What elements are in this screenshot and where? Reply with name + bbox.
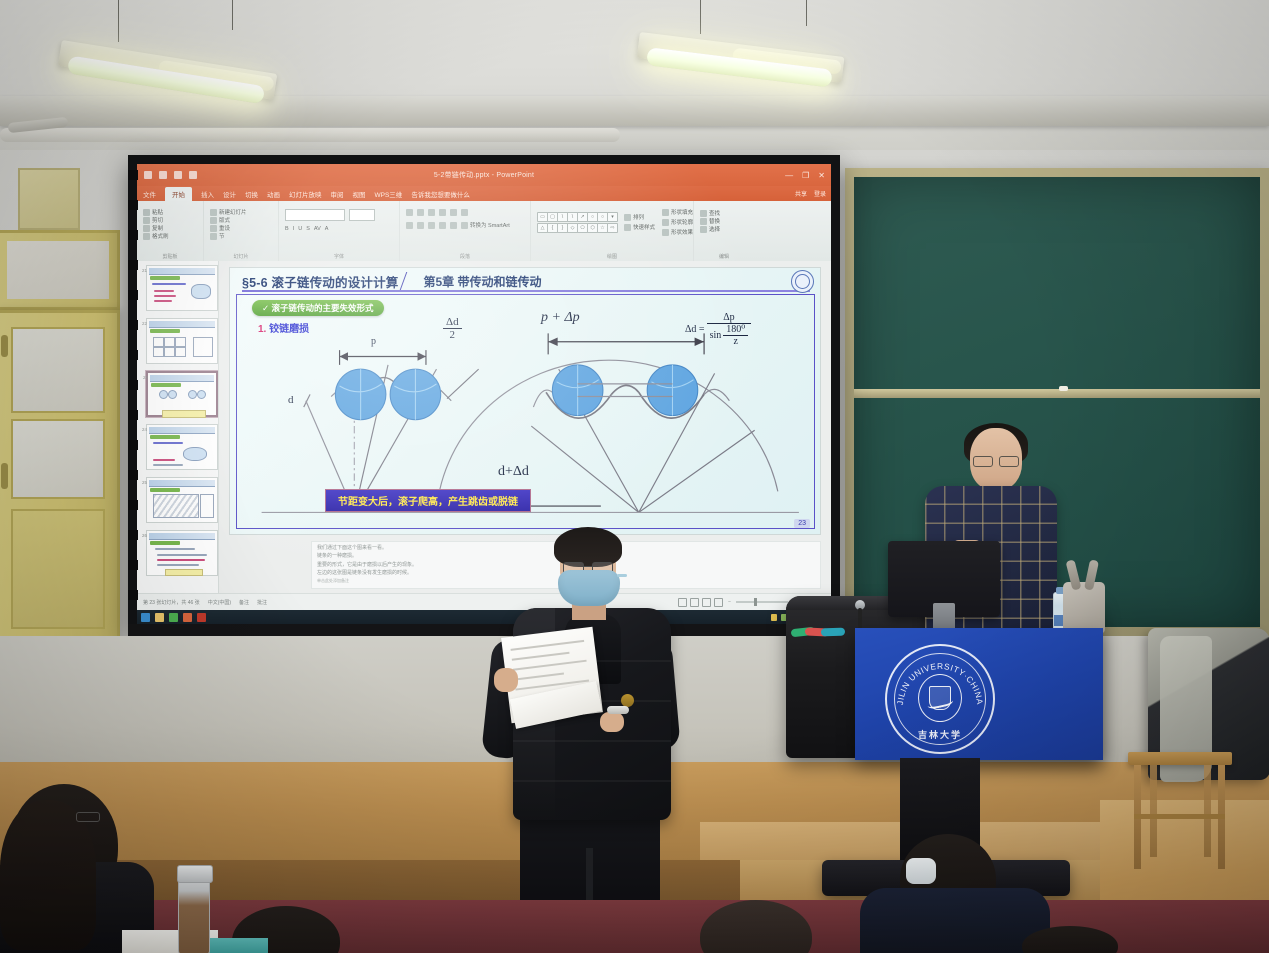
tab-design[interactable]: 设计: [223, 189, 236, 199]
stool-rail: [1134, 814, 1225, 819]
thumb-number: 22: [142, 321, 147, 326]
inner-fraction: 180⁰ z: [723, 324, 748, 347]
ceiling-pipe: [0, 128, 620, 142]
replace-button[interactable]: 替换: [700, 217, 720, 225]
text-direction-button[interactable]: [461, 209, 468, 216]
door-transom: [0, 230, 120, 310]
shape-more-icon[interactable]: ▾: [607, 212, 618, 222]
tab-review[interactable]: 审阅: [331, 189, 344, 199]
formula-numerator: Δp: [707, 312, 752, 323]
mask-ear-loop: [617, 574, 627, 577]
marker-teal[interactable]: [821, 628, 845, 637]
thumb-number: 26: [142, 533, 147, 538]
vacuum-flask: [178, 872, 210, 953]
lamp-wire: [232, 0, 233, 30]
label-p-plus-delta-p: p + Δp: [541, 310, 580, 326]
group-label-drawing: 绘图: [531, 253, 693, 260]
current-slide[interactable]: §5-6 滚子链传动的设计计算 第5章 带传动和链传动 ✓ 滚子链传动的主要失效…: [229, 267, 821, 535]
projected-image: 5-2带链传动.pptx - PowerPoint — ❐ ✕ 文件 开始 插入…: [137, 164, 831, 624]
thumb-green-tag: [150, 276, 180, 280]
tab-file[interactable]: 文件: [143, 189, 156, 199]
screen-tab-strip: [128, 164, 138, 626]
fraction-numerator: Δd: [443, 316, 462, 328]
text-shadow-button[interactable]: S: [306, 226, 310, 232]
format-painter-button[interactable]: 格式刷: [143, 232, 169, 240]
smartart-button[interactable]: 转换为 SmartArt: [461, 221, 510, 229]
close-icon[interactable]: ✕: [818, 171, 825, 180]
label-delta-d-over-2: Δd 2: [443, 316, 462, 341]
group-label-clipboard: 剪贴板: [137, 253, 203, 260]
thumb-number: 24: [142, 427, 147, 432]
stool-leg: [1204, 765, 1211, 857]
thumb-line: [154, 300, 172, 302]
wall-panel: [18, 168, 80, 230]
projection-screen: 5-2带链传动.pptx - PowerPoint — ❐ ✕ 文件 开始 插入…: [128, 155, 840, 633]
thumb-line: [157, 564, 199, 566]
reset-button[interactable]: 重设: [210, 224, 230, 232]
font-color-button[interactable]: A: [325, 226, 329, 232]
notes-toggle[interactable]: 备注: [239, 599, 249, 606]
file-explorer-icon[interactable]: [155, 613, 164, 622]
ribbon-tabs[interactable]: 文件 开始 插入 设计 切换 动画 幻灯片放映 审阅 视图 WPS三维 告诉我您…: [137, 186, 831, 201]
zoom-out-icon[interactable]: −: [728, 599, 731, 605]
chalk-rail: [854, 389, 1260, 398]
thumb-green-tag: [150, 541, 180, 545]
ribbon-group-font[interactable]: B I U S AV A 字体: [279, 201, 400, 261]
tab-insert[interactable]: 插入: [201, 189, 214, 199]
group-label-font: 字体: [279, 253, 399, 260]
powerpoint-icon[interactable]: [183, 613, 192, 622]
font-name-input[interactable]: [285, 209, 345, 221]
thumb-cell: [164, 337, 175, 347]
thumb-title-bar: [149, 533, 215, 540]
transom-glass: [7, 241, 109, 299]
account-area[interactable]: 共享 登录: [795, 189, 826, 198]
thumb-roller: [197, 390, 206, 399]
canvas-tote-bag: [1063, 582, 1105, 634]
inner-denominator: z: [723, 335, 748, 347]
signin-button[interactable]: 登录: [814, 189, 826, 198]
thumb-cell: [175, 347, 186, 357]
slide-thumbnail[interactable]: 21: [146, 265, 218, 311]
thumb-figure: [153, 494, 199, 518]
window-controls[interactable]: — ❐ ✕: [785, 171, 825, 180]
select-button[interactable]: 选择: [700, 225, 720, 233]
slide-thumbnail[interactable]: 24: [146, 424, 218, 470]
thumb-line: [155, 548, 195, 550]
jilin-university-emblem: JILIN UNIVERSITY·CHINA 吉林大学: [885, 644, 995, 754]
new-slide-button[interactable]: 新建幻灯片: [210, 208, 247, 216]
thumb-line: [154, 295, 176, 297]
thumb-green-tag: [151, 383, 181, 387]
audience-glasses-icon: [76, 812, 100, 822]
ribbon-group-editing[interactable]: 查找 替换 选择 编辑: [694, 201, 754, 261]
align-center-button[interactable]: [417, 222, 424, 229]
thumb-cell: [153, 337, 164, 347]
tell-me-box[interactable]: 告诉我您想要做什么: [411, 189, 470, 199]
slide-page-number: 23: [794, 519, 810, 528]
thumb-cell: [164, 347, 175, 357]
increase-indent-button[interactable]: [439, 209, 446, 216]
ribbon-group-paragraph[interactable]: 转换为 SmartArt 段落: [400, 201, 531, 261]
thumb-figure: [200, 494, 214, 518]
emblem-crest: [918, 674, 962, 722]
character-spacing-button[interactable]: AV: [314, 226, 321, 232]
reading-view-icon[interactable]: [702, 598, 711, 607]
thumb-line: [154, 290, 174, 292]
thumb-number: 25: [142, 480, 147, 485]
tab-animations[interactable]: 动画: [267, 189, 280, 199]
thumb-callout: [162, 410, 206, 418]
start-button[interactable]: [141, 613, 150, 622]
group-label-editing: 编辑: [694, 253, 754, 260]
lamp-wire: [806, 0, 807, 26]
stool-seat: [1128, 752, 1232, 765]
arrange-button[interactable]: 排列: [624, 213, 655, 221]
section-button[interactable]: 节: [210, 232, 225, 240]
sin-label: sin: [710, 330, 722, 341]
thumb-title-bar: [149, 480, 215, 487]
standing-presenter-hair: [554, 527, 622, 567]
whiteboard-markers[interactable]: [791, 628, 847, 638]
work-area: 21 22: [137, 261, 831, 594]
door-glass-pane: [11, 419, 105, 499]
slide-thumbnail[interactable]: 26: [146, 530, 218, 576]
ribbon[interactable]: 粘贴 剪切 复制 格式刷 剪贴板 新建幻灯片 版式 重设 节 幻灯片: [137, 201, 831, 262]
door-glass-pane: [11, 327, 105, 413]
copy-button[interactable]: 复制: [143, 224, 163, 232]
thumb-green-tag: [150, 329, 180, 333]
justify-button[interactable]: [439, 222, 446, 229]
thumb-figure: [193, 337, 213, 357]
slide-thumbnail[interactable]: 22: [146, 318, 218, 364]
lamp-wire: [700, 0, 701, 34]
slide-thumbnail-panel[interactable]: 21 22: [137, 261, 219, 594]
view-buttons[interactable]: [678, 598, 723, 607]
shape-effects-button[interactable]: 形状效果: [662, 228, 693, 236]
ribbon-group-slides[interactable]: 新建幻灯片 版式 重设 节 幻灯片: [204, 201, 279, 261]
door-wood-panel: [11, 509, 105, 629]
thumb-number: 21: [142, 268, 147, 273]
font-size-input[interactable]: [349, 209, 375, 221]
stool-leg: [1150, 765, 1157, 857]
thumb-roller: [168, 390, 177, 399]
inner-numerator: 180⁰: [723, 324, 748, 335]
slide-sorter-icon[interactable]: [690, 598, 699, 607]
decrease-indent-button[interactable]: [428, 209, 435, 216]
lens-right: [999, 456, 1019, 467]
pdf-reader-icon[interactable]: [197, 613, 206, 622]
wristwatch: [607, 706, 629, 714]
find-button[interactable]: 查找: [700, 209, 720, 217]
status-bar[interactable]: 第 23 张幻灯片，共 46 张 中文(中国) 备注 批注 − +: [137, 593, 831, 610]
slide-editing-area[interactable]: §5-6 滚子链传动的设计计算 第5章 带传动和链传动 ✓ 滚子链传动的主要失效…: [219, 261, 831, 594]
tab-transitions[interactable]: 切换: [245, 189, 258, 199]
align-right-button[interactable]: [428, 222, 435, 229]
thumb-roller: [159, 390, 168, 399]
lamp-wire: [118, 0, 119, 42]
fraction: Δd 2: [443, 316, 462, 341]
thumb-line: [157, 559, 205, 561]
line-spacing-button[interactable]: [450, 209, 457, 216]
paste-button[interactable]: 粘贴: [143, 208, 163, 216]
tab-wps3d[interactable]: WPS三维: [375, 189, 403, 199]
columns-button[interactable]: [450, 222, 457, 229]
thumb-title-bar: [149, 321, 215, 328]
shape-arrow2-icon[interactable]: ⇨: [607, 223, 618, 233]
thumb-title-bar: [149, 268, 215, 275]
title-bar: 5-2带链传动.pptx - PowerPoint — ❐ ✕: [137, 164, 831, 186]
cut-button[interactable]: 剪切: [143, 216, 163, 224]
audience-hair-long: [0, 800, 96, 950]
minimize-icon[interactable]: —: [785, 171, 793, 180]
group-label-paragraph: 段落: [400, 253, 530, 260]
audience-face-mask: [906, 858, 936, 884]
shape-outline-button[interactable]: 形状轮廓: [662, 218, 693, 226]
bullets-button[interactable]: [406, 209, 413, 216]
wooden-stool: [1128, 752, 1232, 872]
thumb-number: 23: [143, 375, 148, 380]
standing-presenter-left-hand: [494, 668, 518, 692]
thumb-line: [157, 554, 207, 556]
comments-toggle[interactable]: 批注: [257, 599, 267, 606]
tab-home[interactable]: 开始: [165, 187, 192, 201]
numbering-button[interactable]: [417, 209, 424, 216]
bold-button[interactable]: B: [285, 226, 289, 232]
fraction-denominator: 2: [443, 328, 462, 341]
thumb-green-tag: [150, 435, 180, 439]
formula-lhs: Δd =: [685, 324, 705, 335]
italic-button[interactable]: I: [293, 226, 295, 232]
windows-taskbar[interactable]: [137, 610, 831, 624]
lecture-hall-scene: 5-2带链传动.pptx - PowerPoint — ❐ ✕ 文件 开始 插入…: [0, 0, 1269, 953]
browser-icon[interactable]: [169, 613, 178, 622]
thumb-green-tag: [150, 488, 180, 492]
window-title: 5-2带链传动.pptx - PowerPoint: [137, 170, 831, 180]
slide-thumbnail[interactable]: 25: [146, 477, 218, 523]
chalk-piece: [1059, 386, 1068, 391]
thumb-line: [153, 464, 183, 466]
thumb-cell: [153, 347, 164, 357]
ceiling-beam: [0, 96, 1269, 126]
emblem-chinese-name: 吉林大学: [887, 728, 993, 741]
shape-fill-button[interactable]: 形状填充: [662, 208, 693, 216]
layout-button[interactable]: 版式: [210, 216, 230, 224]
glasses-bridge: [582, 566, 594, 567]
thumb-callout: [165, 569, 203, 576]
powerpoint-window[interactable]: 5-2带链传动.pptx - PowerPoint — ❐ ✕ 文件 开始 插入…: [137, 164, 831, 624]
thumb-line: [152, 283, 186, 285]
tab-slideshow[interactable]: 幻灯片放映: [289, 189, 322, 199]
share-button[interactable]: 共享: [795, 189, 807, 198]
tab-view[interactable]: 视图: [353, 189, 366, 199]
zoom-slider[interactable]: [736, 601, 788, 603]
lens-left: [973, 456, 993, 467]
underline-button[interactable]: U: [298, 226, 302, 232]
shapes-gallery[interactable]: ▭ ▢ \ \ ↗ ○ ○ ▾ △ { } ◇: [537, 212, 616, 233]
desk-notebook[interactable]: [208, 938, 268, 953]
formula-denominator: sin 180⁰ z: [707, 323, 752, 347]
slide-thumbnail-selected[interactable]: 23: [146, 371, 218, 417]
slide-counter: 第 23 张幻灯片，共 46 张: [143, 599, 200, 606]
label-p: p: [371, 336, 376, 347]
slideshow-icon[interactable]: [714, 598, 723, 607]
ime-icon[interactable]: [771, 614, 777, 621]
standing-presenter-right-hand: [600, 712, 624, 732]
align-left-button[interactable]: [406, 222, 413, 229]
thumb-figure: [191, 284, 211, 299]
formula-fraction: Δp sin 180⁰ z: [707, 312, 752, 347]
restore-icon[interactable]: ❐: [802, 171, 809, 180]
thumb-cell: [175, 337, 186, 347]
face-mask: [558, 570, 620, 606]
zoom-handle[interactable]: [754, 598, 757, 606]
thumb-title-bar: [149, 427, 215, 434]
thumb-line: [153, 459, 175, 461]
door-handle[interactable]: [1, 463, 8, 489]
ribbon-group-clipboard[interactable]: 粘贴 剪切 复制 格式刷 剪贴板: [137, 201, 204, 261]
thumb-title-bar: [150, 375, 214, 382]
flask-cap: [177, 865, 213, 883]
label-d: d: [288, 394, 294, 406]
normal-view-icon[interactable]: [678, 598, 687, 607]
formula-delta-d: Δd = Δp sin 180⁰ z: [685, 312, 751, 347]
bottom-callout: 节距变大后，滚子爬高，产生跳齿或脱链: [325, 489, 531, 512]
quick-styles-button[interactable]: 快速样式: [624, 223, 655, 231]
ribbon-group-drawing[interactable]: ▭ ▢ \ \ ↗ ○ ○ ▾ △ { } ◇: [531, 201, 694, 261]
eyeglasses-icon: [973, 456, 1019, 465]
language-indicator[interactable]: 中文(中国): [208, 599, 231, 606]
group-label-slides: 幻灯片: [204, 253, 278, 260]
thumb-line: [153, 442, 183, 444]
thumb-figure: [183, 447, 207, 461]
door-hinge: [1, 335, 8, 357]
label-d-plus-delta-d: d+Δd: [498, 464, 529, 480]
dell-monitor: [888, 541, 1000, 617]
lectern-podium: JILIN UNIVERSITY·CHINA 吉林大学: [855, 628, 1103, 760]
thumb-roller: [188, 390, 197, 399]
